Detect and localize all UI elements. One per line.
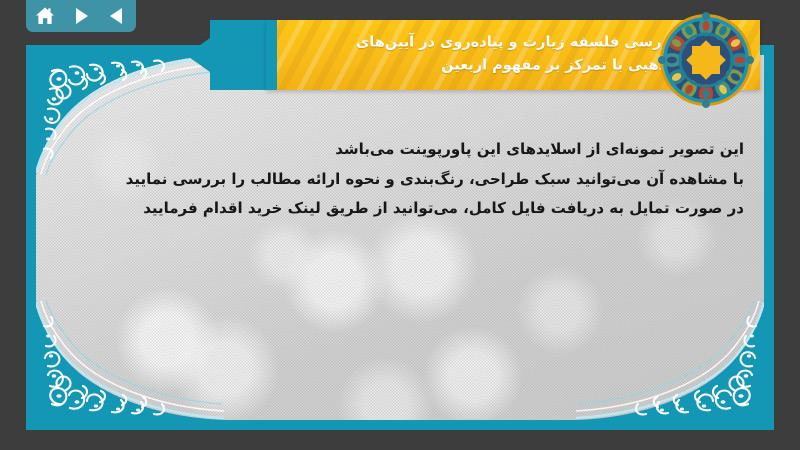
slide-content-area	[36, 55, 764, 420]
back-button[interactable]	[106, 5, 128, 27]
triangle-right-icon	[70, 5, 92, 27]
persian-medallion-ornament-icon	[658, 12, 754, 108]
body-line-2: با مشاهده آن می‌توانید سبک طراحی، رنگ‌بن…	[56, 165, 744, 195]
body-line-3: در صورت تمایل به دریافت فایل کامل، می‌تو…	[56, 194, 744, 224]
forward-button[interactable]	[70, 5, 92, 27]
title-line-2: مذهبی با تمرکز بر مفهوم اربعین	[302, 55, 676, 78]
triangle-left-icon	[106, 5, 128, 27]
navigation-bar	[26, 0, 136, 32]
page-title: بررسی فلسفه زیارت و پیاده‌روی در آیین‌ها…	[302, 32, 676, 79]
body-line-1: این تصویر نمونه‌ای از اسلایدهای این پاور…	[56, 135, 744, 165]
home-button[interactable]	[34, 5, 56, 27]
home-icon	[34, 5, 56, 27]
title-line-1: بررسی فلسفه زیارت و پیاده‌روی در آیین‌ها…	[302, 32, 676, 55]
banner-arrow-tab	[186, 20, 274, 90]
slide-body-text: این تصویر نمونه‌ای از اسلایدهای این پاور…	[56, 135, 744, 224]
slide-canvas: بررسی فلسفه زیارت و پیاده‌روی در آیین‌ها…	[0, 0, 800, 450]
